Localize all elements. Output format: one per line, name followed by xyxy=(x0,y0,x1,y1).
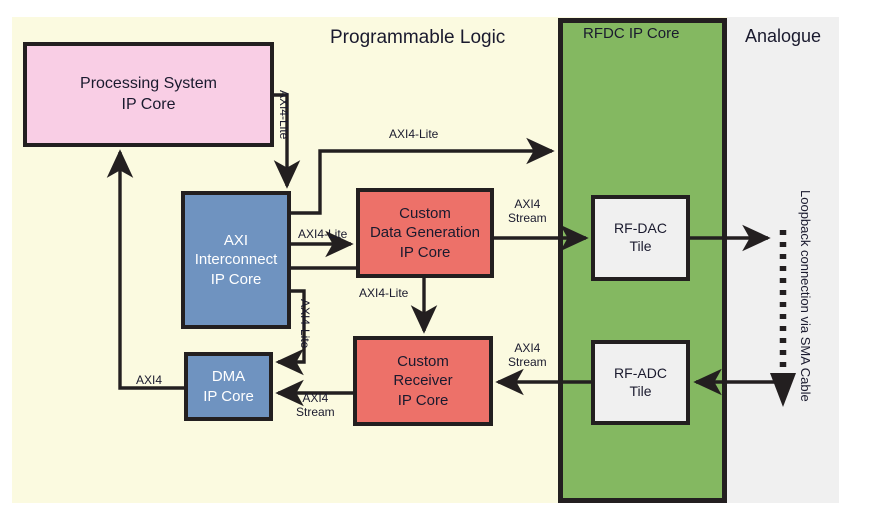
edge-label-dma-to-ps: AXI4 xyxy=(136,374,162,388)
block-label-line: Custom xyxy=(399,204,451,223)
edge-label-line: Stream xyxy=(508,355,547,369)
edge-label-line: Stream xyxy=(296,405,335,419)
block-custom-data-generation[interactable]: Custom Data Generation IP Core xyxy=(356,188,494,278)
block-label-line: Processing System xyxy=(80,74,217,94)
edge-label-rfadc-to-receiver: AXI4 Stream xyxy=(508,342,547,370)
block-label-line: Data Generation xyxy=(370,223,480,242)
block-label-line: RF-ADC xyxy=(614,365,667,383)
block-label-line: RF-DAC xyxy=(614,220,667,238)
block-label-line: Tile xyxy=(629,383,651,401)
block-label-line: IP Core xyxy=(211,270,262,289)
block-rf-adc-tile[interactable]: RF-ADC Tile xyxy=(591,340,690,425)
block-label-line: IP Core xyxy=(203,387,254,406)
edge-label-interconnect-to-receiver: AXI4-Lite xyxy=(359,287,408,301)
block-label-line: DMA xyxy=(212,367,245,386)
region-title-analogue: Analogue xyxy=(745,26,821,47)
block-label-line: Custom xyxy=(397,352,449,371)
block-axi-interconnect[interactable]: AXI Interconnect IP Core xyxy=(181,191,291,329)
edge-label-ps-to-interconnect: AXI4-Lite xyxy=(276,90,290,139)
block-custom-receiver[interactable]: Custom Receiver IP Core xyxy=(353,336,493,426)
block-label-line: Interconnect xyxy=(195,250,278,269)
block-dma-ip-core[interactable]: DMA IP Core xyxy=(184,352,273,421)
region-analogue xyxy=(727,17,839,503)
block-processing-system[interactable]: Processing System IP Core xyxy=(23,42,274,147)
block-label-line: IP Core xyxy=(122,95,176,115)
edge-label-interconnect-to-datagen: AXI4-Lite xyxy=(298,228,347,242)
edge-label-line: AXI4 xyxy=(514,197,540,211)
edge-label-loopback-sma: Loopback connection via SMA Cable xyxy=(797,190,812,402)
edge-label-line: AXI4 xyxy=(302,391,328,405)
block-rf-dac-tile[interactable]: RF-DAC Tile xyxy=(591,195,690,281)
block-label-line: IP Core xyxy=(398,391,449,410)
edge-label-datagen-to-rfdac: AXI4 Stream xyxy=(508,198,547,226)
edge-label-interconnect-to-rfdc: AXI4-Lite xyxy=(389,128,438,142)
edge-label-receiver-to-dma: AXI4 Stream xyxy=(296,392,335,420)
edge-label-line: Stream xyxy=(508,211,547,225)
block-label-line: Receiver xyxy=(393,371,452,390)
block-label-line: Tile xyxy=(629,238,651,256)
edge-label-line: AXI4 xyxy=(514,341,540,355)
block-label-line: AXI xyxy=(224,231,248,250)
region-title-rfdc: RFDC IP Core xyxy=(583,25,679,42)
block-diagram-canvas: Programmable Logic RFDC IP Core Analogue xyxy=(0,0,869,518)
edge-label-interconnect-to-dma: AXI4-Lite xyxy=(297,299,311,348)
region-title-programmable-logic: Programmable Logic xyxy=(330,27,505,49)
block-label-line: IP Core xyxy=(400,243,451,262)
